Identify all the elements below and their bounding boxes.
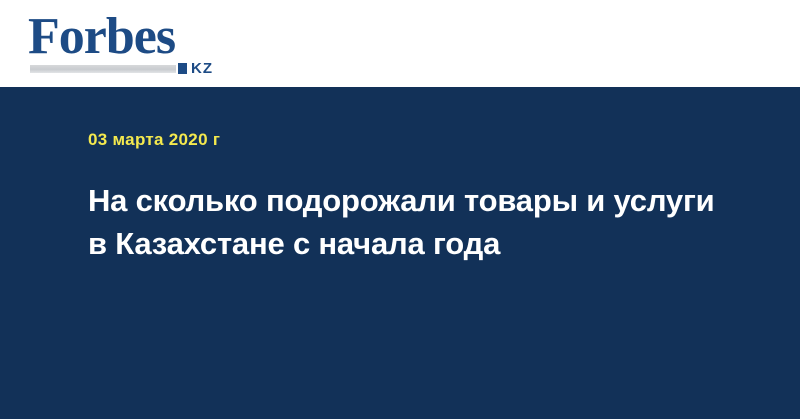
logo-edition-label: KZ <box>191 61 213 76</box>
logo-edition-mark: KZ <box>178 61 213 76</box>
article-body: 03 марта 2020 г На сколько подорожали то… <box>0 87 800 419</box>
forbes-kz-logo[interactable]: Forbes KZ <box>28 10 228 76</box>
article-headline[interactable]: На сколько подорожали товары и услуги в … <box>88 179 733 265</box>
article-card: Forbes KZ 03 марта 2020 г На сколько под… <box>0 0 800 419</box>
logo-wordmark: Forbes <box>28 10 228 64</box>
kz-square-icon <box>178 63 187 74</box>
article-date: 03 марта 2020 г <box>88 130 220 150</box>
logo-rule-divider <box>30 65 176 73</box>
site-header: Forbes KZ <box>0 0 800 87</box>
